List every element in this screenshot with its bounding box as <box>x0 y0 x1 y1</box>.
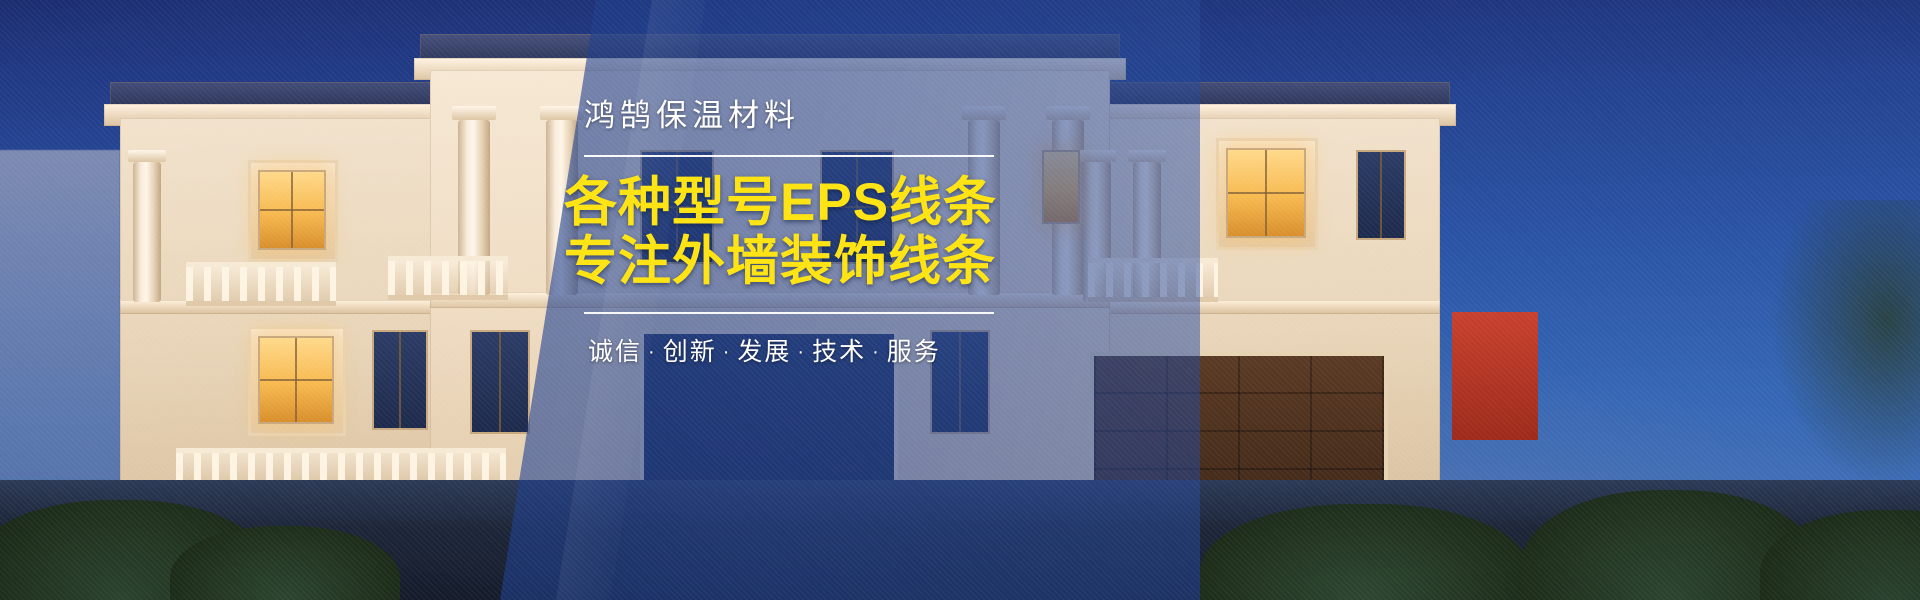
balustrade <box>186 262 336 306</box>
column-capital <box>452 106 496 120</box>
tagline-separator: · <box>642 341 663 363</box>
column-capital <box>128 150 166 162</box>
column <box>133 162 161 302</box>
tagline-item: 创新 <box>663 338 717 366</box>
background-building <box>0 150 120 480</box>
lit-window <box>258 336 334 424</box>
tagline-item: 诚信 <box>588 338 642 366</box>
headline-line-2: 专注外墙装饰线条 <box>564 232 1030 291</box>
left-wing-roof <box>110 82 460 106</box>
lit-window <box>1226 148 1306 238</box>
banner-copy-block: 鸿鹄保温材料 各种型号EPS线条 专注外墙装饰线条 诚信·创新·发展·技术·服务 <box>560 100 1030 368</box>
tagline-item: 服务 <box>887 338 941 366</box>
tagline-separator: · <box>717 341 738 363</box>
tree-silhouette <box>1760 200 1920 500</box>
balustrade <box>388 256 508 300</box>
red-accent-object <box>1452 312 1538 440</box>
lit-window <box>258 170 326 250</box>
dark-window <box>470 330 530 434</box>
tagline-separator: · <box>866 341 887 363</box>
tagline: 诚信·创新·发展·技术·服务 <box>560 332 1030 368</box>
divider-top <box>584 155 994 157</box>
tagline-item: 技术 <box>812 338 866 366</box>
tagline-item: 发展 <box>737 338 791 366</box>
tagline-separator: · <box>791 341 812 363</box>
brand-name: 鸿鹄保温材料 <box>560 100 1030 131</box>
dark-window <box>1356 150 1406 240</box>
hero-banner: 鸿鹄保温材料 各种型号EPS线条 专注外墙装饰线条 诚信·创新·发展·技术·服务 <box>0 0 1920 600</box>
divider-bottom <box>584 312 994 314</box>
dark-window <box>372 330 428 430</box>
headline-line-1: 各种型号EPS线条 <box>564 173 1030 232</box>
headline-block: 各种型号EPS线条 专注外墙装饰线条 <box>560 173 1030 292</box>
